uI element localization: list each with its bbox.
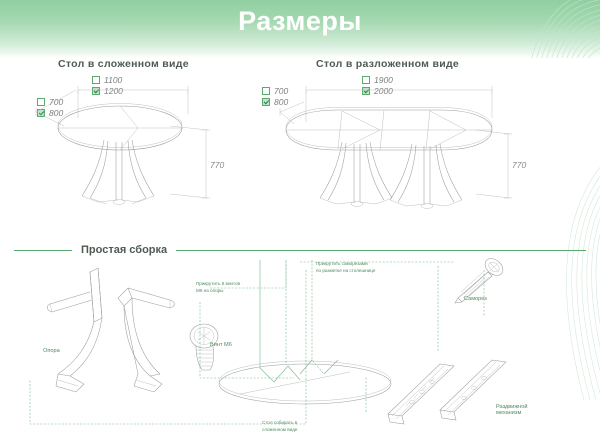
rule-left — [14, 250, 72, 251]
checkbox-unchecked-icon[interactable] — [262, 87, 270, 95]
assembly-note-bolts: Прикрутить 8 винтов М6 на опоры — [196, 281, 240, 294]
annotation-connectors — [14, 256, 586, 431]
checkbox-checked-icon[interactable] — [262, 98, 270, 106]
unfolded-table-drawing — [280, 68, 530, 228]
assembly-section-heading: Простая сборка — [14, 243, 586, 257]
assembly-title: Простая сборка — [72, 244, 176, 256]
assembly-note-folded: Стол собирать в сложенном виде — [262, 420, 297, 433]
page-title: Размеры — [0, 6, 600, 37]
folded-table-drawing — [20, 68, 250, 228]
rule-right — [176, 250, 586, 251]
page-header: Размеры — [0, 0, 600, 58]
assembly-note-screws: Прикрутить саморезами по разметке на сто… — [316, 261, 375, 274]
